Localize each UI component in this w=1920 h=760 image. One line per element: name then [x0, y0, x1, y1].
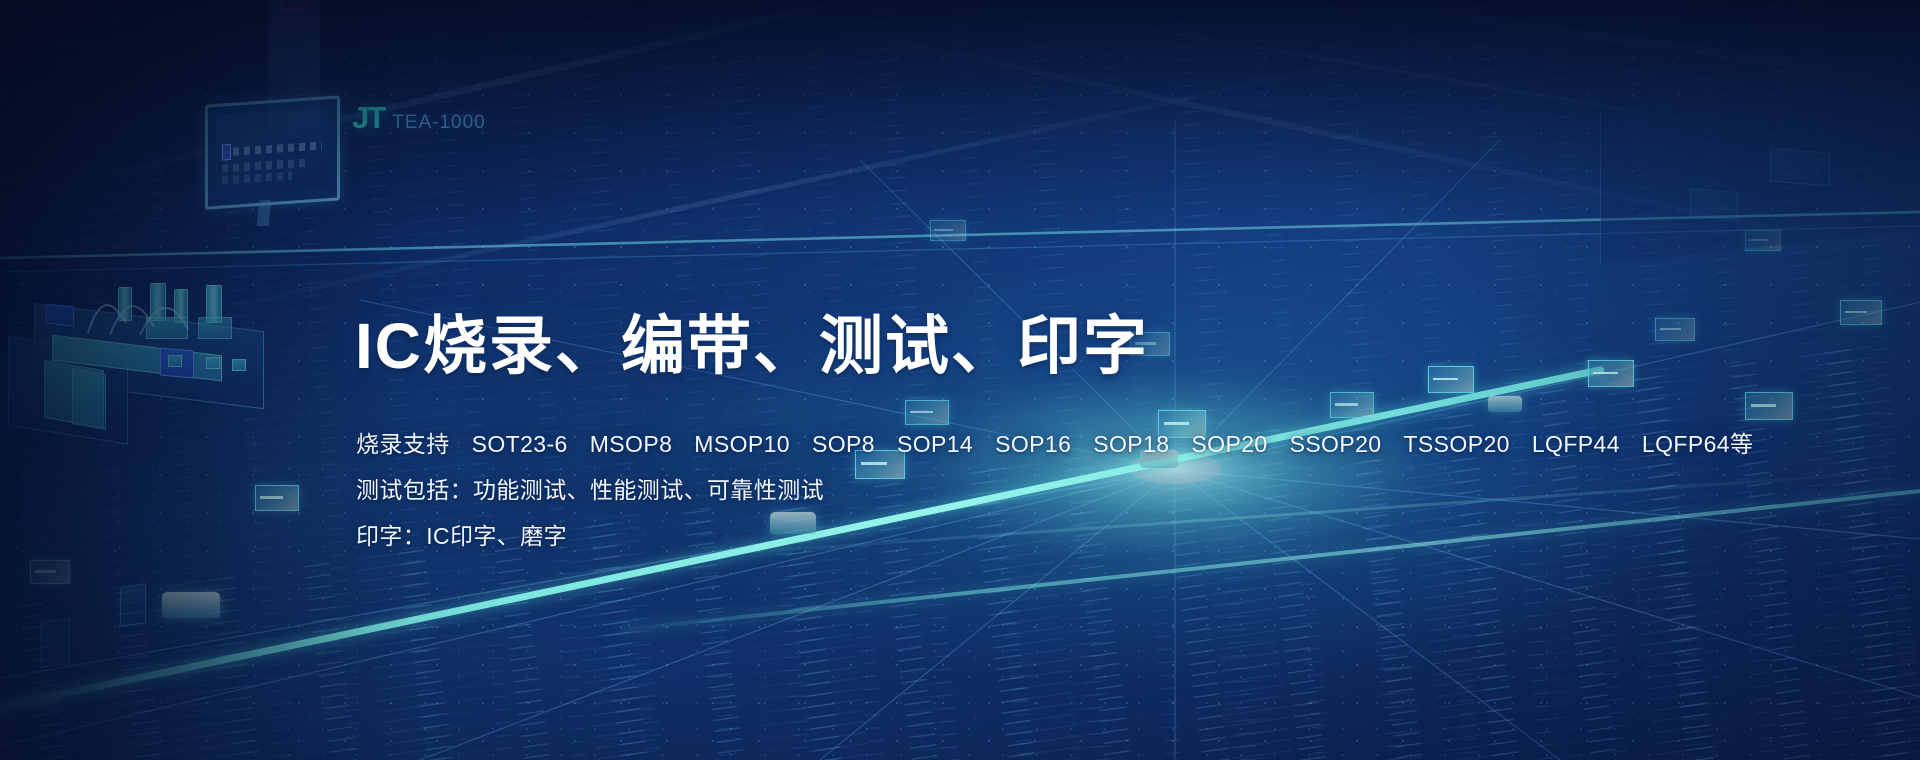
packages-prefix: 烧录支持: [356, 431, 450, 457]
banner-subline-testing: 测试包括：功能测试、性能测试、可靠性测试: [356, 479, 824, 502]
package-token: SOP20: [1191, 431, 1267, 457]
package-token: SOT23-6: [472, 431, 568, 457]
package-token: MSOP10: [694, 431, 790, 457]
hero-banner: JT TEA-1000 IC烧录、编带、测试、印字 烧录支持SOT23-6MSO…: [0, 0, 1920, 760]
package-token: MSOP8: [590, 431, 673, 457]
package-token: SOP8: [812, 431, 875, 457]
banner-subline-packages: 烧录支持SOT23-6MSOP8MSOP10SOP8SOP14SOP16SOP1…: [356, 433, 1753, 456]
package-token: LQFP64等: [1642, 431, 1753, 457]
package-token: SOP18: [1093, 431, 1169, 457]
package-token: SOP14: [897, 431, 973, 457]
package-token: SOP16: [995, 431, 1071, 457]
package-token: LQFP44: [1532, 431, 1620, 457]
package-list: SOT23-6MSOP8MSOP10SOP8SOP14SOP16SOP18SOP…: [450, 431, 1754, 457]
package-token: TSSOP20: [1403, 431, 1509, 457]
banner-content: IC烧录、编带、测试、印字 烧录支持SOT23-6MSOP8MSOP10SOP8…: [0, 0, 1920, 760]
banner-subline-marking: 印字：IC印字、磨字: [356, 525, 567, 548]
package-token: SSOP20: [1290, 431, 1382, 457]
banner-headline: IC烧录、编带、测试、印字: [355, 314, 1149, 378]
